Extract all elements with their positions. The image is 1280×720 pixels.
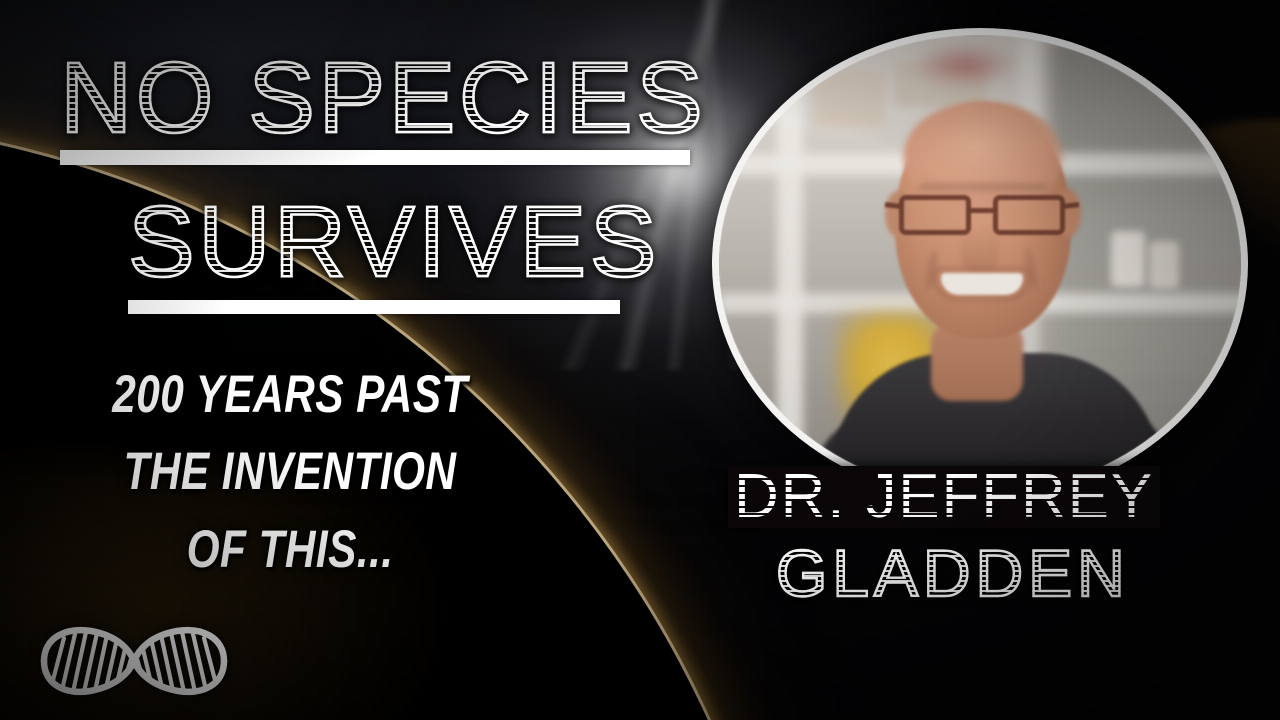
dna-helix-icon <box>34 618 234 704</box>
photo-soften-overlay <box>719 35 1241 493</box>
headline-line-1: NO SPECIES <box>60 48 706 148</box>
guest-first-name-band: DR. JEFFREY <box>728 466 1160 528</box>
video-thumbnail: NO SPECIES SURVIVES 200 YEARS PAST THE I… <box>0 0 1280 720</box>
subtitle-line-2: THE INVENTION <box>58 433 522 510</box>
guest-first-name: DR. JEFFREY <box>734 466 1154 528</box>
dna-strands <box>44 630 224 692</box>
headline-rule-2 <box>128 300 620 314</box>
headline-line-2: SURVIVES <box>128 192 660 292</box>
guest-portrait-photo <box>719 35 1241 493</box>
guest-portrait-circle <box>712 28 1248 500</box>
guest-last-name: GLADDEN <box>776 540 1130 606</box>
subtitle-line-1: 200 YEARS PAST <box>58 356 522 433</box>
headline-rule-1 <box>60 150 690 165</box>
subtitle-block: 200 YEARS PAST THE INVENTION OF THIS... <box>0 356 580 588</box>
subtitle-line-3: OF THIS... <box>58 511 522 588</box>
